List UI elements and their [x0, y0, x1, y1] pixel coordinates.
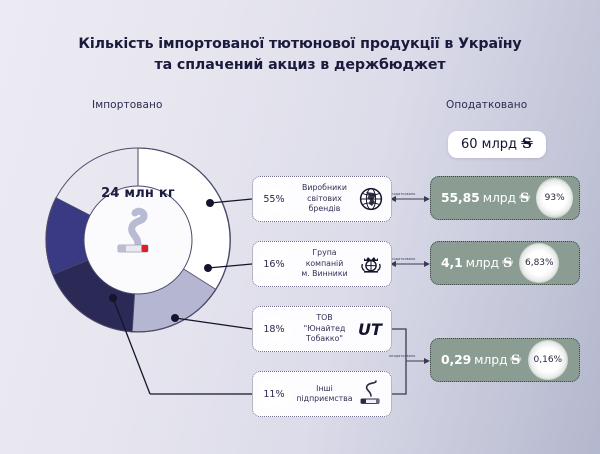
leader-dot-united-tobacco	[171, 314, 179, 322]
cigarette-smoke-icon	[108, 204, 168, 260]
tax-card-world-brands[interactable]: 55,85 млрд ₴ 93%	[430, 176, 580, 220]
section-header-imported: Імпортовано	[92, 99, 163, 111]
donut-center-value: 24 млн кг	[38, 186, 238, 201]
importer-name: ТОВ "Юнайтед Тобакко"	[291, 313, 358, 344]
tax-amount-value: 4,1	[441, 255, 463, 270]
tax-share-badge: 93%	[536, 178, 573, 218]
tax-amount-unit: млрд	[474, 352, 507, 367]
importer-card-other[interactable]: 11% Інші підприємства	[252, 371, 392, 417]
tax-share-badge: 0,16%	[528, 340, 568, 380]
svg-text:UT: UT	[358, 320, 383, 339]
hryvnia-icon: ₴	[502, 256, 513, 271]
ut-logo-icon: UT	[358, 318, 384, 340]
tax-amount-value: 55,85	[441, 190, 480, 205]
importer-name-line-1: Інші	[316, 384, 333, 393]
tax-card-other[interactable]: 0,29 млрд ₴ 0,16%	[430, 338, 580, 382]
tax-amount: 0,29 млрд ₴	[441, 352, 522, 368]
total-tax-value: 60 млрд	[461, 137, 517, 152]
importer-card-vynnyky[interactable]: 16% Група компаній м. Винники	[252, 241, 392, 287]
hryvnia-icon: ₴	[521, 136, 533, 152]
tax-amount-unit: млрд	[466, 255, 499, 270]
cigarette-icon	[358, 379, 384, 409]
importer-name-line-3: м. Винники	[301, 269, 347, 278]
importer-name-line-2: підприємства	[296, 394, 352, 403]
coat-of-arms-icon	[358, 252, 384, 276]
importer-name-line-2: "Юнайтед	[304, 324, 346, 333]
tax-share-badge: 6,83%	[519, 243, 559, 283]
importer-name-line-1: Група	[312, 248, 336, 257]
importer-card-world-brands[interactable]: 55% Виробники світових брендів	[252, 176, 392, 222]
importer-name-line-2: компаній	[306, 259, 344, 268]
infographic-canvas: Кількість імпортованої тютюнової продукц…	[0, 0, 600, 454]
connector-label-vynnyky: оподатковано	[389, 257, 415, 261]
tax-amount: 4,1 млрд ₴	[441, 255, 513, 271]
hryvnia-icon: ₴	[519, 191, 530, 206]
importer-name: Інші підприємства	[291, 384, 358, 405]
tax-amount: 55,85 млрд ₴	[441, 190, 530, 206]
importer-percent: 16%	[257, 259, 291, 270]
importer-card-united-tobacco[interactable]: 18% ТОВ "Юнайтед Тобакко" UT	[252, 306, 392, 352]
importer-name-line-1: ТОВ	[316, 313, 332, 322]
importer-percent: 18%	[257, 324, 291, 335]
importer-percent: 55%	[257, 194, 291, 205]
importer-name-line-1: Виробники	[302, 183, 347, 192]
tax-amount-unit: млрд	[483, 190, 516, 205]
connector-label-world-brands: оподатковано	[389, 192, 415, 196]
importer-name: Виробники світових брендів	[291, 183, 358, 214]
page-title: Кількість імпортованої тютюнової продукц…	[0, 34, 600, 75]
hryvnia-icon: ₴	[510, 353, 521, 368]
total-tax-badge: 60 млрд ₴	[448, 131, 546, 158]
importer-name: Група компаній м. Винники	[291, 248, 358, 279]
leader-dot-vynnyky	[204, 264, 212, 272]
title-line-1: Кількість імпортованої тютюнової продукц…	[78, 36, 521, 52]
connector-label-other: оподатковано	[389, 354, 415, 358]
tax-amount-value: 0,29	[441, 352, 471, 367]
section-header-taxed: Оподатковано	[446, 99, 527, 111]
importer-name-line-3: Тобакко"	[306, 334, 343, 343]
tax-card-vynnyky[interactable]: 4,1 млрд ₴ 6,83%	[430, 241, 580, 285]
leader-dot-other	[109, 294, 117, 302]
title-line-2: та сплачений акциз в держбюджет	[0, 55, 600, 76]
importer-percent: 11%	[257, 389, 291, 400]
globe-icon	[358, 187, 384, 211]
importer-name-line-2: світових	[307, 194, 342, 203]
importer-name-line-3: брендів	[309, 204, 341, 213]
